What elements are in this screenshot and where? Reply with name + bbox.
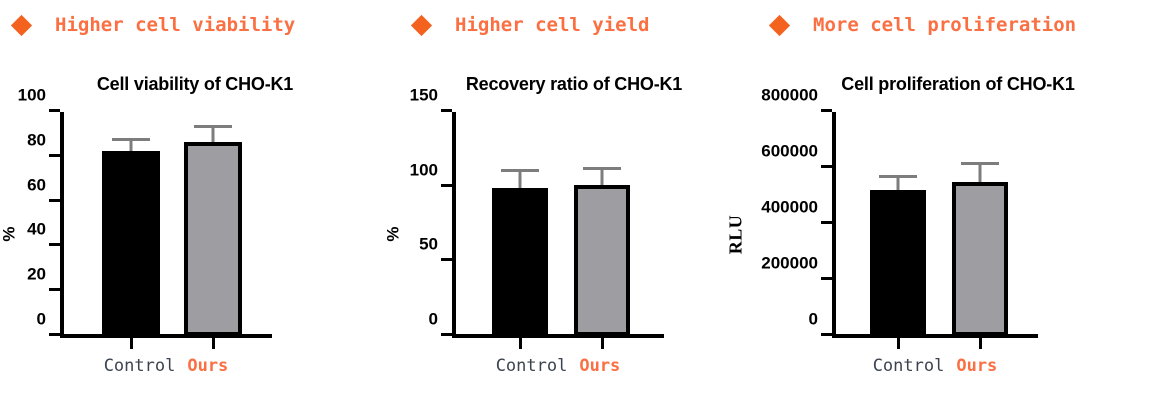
y-axis-label: % bbox=[0, 226, 20, 241]
y-tick bbox=[821, 221, 832, 224]
y-tick bbox=[441, 333, 452, 336]
claim-text: Higher cell yield bbox=[455, 14, 649, 36]
y-tick bbox=[821, 109, 832, 112]
y-tick-label: 0 bbox=[37, 311, 46, 328]
bar-ours bbox=[952, 182, 1008, 336]
x-label-ours: Ours bbox=[187, 358, 228, 375]
y-tick bbox=[49, 333, 60, 336]
x-tick bbox=[212, 338, 215, 349]
x-axis-line bbox=[452, 334, 664, 338]
claim-item-viability: Higher cell viability bbox=[14, 8, 295, 42]
chart-title: Recovery ratio of CHO-K1 bbox=[390, 74, 758, 95]
error-bar-ours bbox=[184, 125, 242, 142]
y-tick-label: 150 bbox=[410, 87, 438, 104]
figure-root: Higher cell viability Higher cell yield … bbox=[0, 0, 1158, 400]
error-bar-ours bbox=[952, 162, 1008, 182]
chart-panel-recovery: Recovery ratio of CHO-K1 0 50 100 150 % bbox=[390, 56, 758, 400]
y-tick-label: 20 bbox=[27, 266, 46, 283]
x-label-control: Control bbox=[104, 358, 176, 375]
error-bar-cap bbox=[194, 125, 232, 128]
chart-panel-proliferation: Cell proliferation of CHO-K1 0 200000 40… bbox=[758, 56, 1158, 400]
y-tick bbox=[441, 109, 452, 112]
y-tick-label: 0 bbox=[429, 311, 438, 328]
y-tick bbox=[821, 165, 832, 168]
error-bar-cap bbox=[112, 138, 150, 141]
y-tick-label: 60 bbox=[27, 176, 46, 193]
diamond-icon bbox=[769, 14, 790, 35]
y-tick bbox=[49, 199, 60, 202]
x-label-control: Control bbox=[496, 358, 568, 375]
bar-ours bbox=[574, 185, 630, 336]
y-tick-label: 0 bbox=[809, 311, 818, 328]
y-tick bbox=[821, 277, 832, 280]
x-tick bbox=[601, 338, 604, 349]
y-tick-label: 100 bbox=[18, 87, 46, 104]
chart-panel-viability: Cell viability of CHO-K1 0 20 40 60 80 1… bbox=[0, 56, 390, 400]
x-label-ours: Ours bbox=[956, 358, 997, 375]
chart-title: Cell proliferation of CHO-K1 bbox=[758, 74, 1158, 95]
error-bar-ours bbox=[574, 167, 630, 185]
claim-text: More cell proliferation bbox=[813, 14, 1076, 36]
error-bar-cap bbox=[583, 167, 621, 170]
x-axis-labels: Control Ours bbox=[452, 358, 664, 375]
x-label-ours: Ours bbox=[579, 358, 620, 375]
y-tick bbox=[49, 109, 60, 112]
x-tick bbox=[519, 338, 522, 349]
y-tick bbox=[441, 258, 452, 261]
y-axis-line bbox=[60, 112, 64, 336]
error-bar-cap bbox=[501, 169, 539, 172]
claim-item-yield: Higher cell yield bbox=[414, 8, 649, 42]
error-bar-cap bbox=[961, 162, 999, 165]
diamond-icon bbox=[11, 14, 32, 35]
y-tick-label: 200000 bbox=[761, 255, 818, 272]
chart-title: Cell viability of CHO-K1 bbox=[0, 74, 390, 95]
bar-control bbox=[102, 151, 160, 336]
y-tick bbox=[441, 184, 452, 187]
x-tick bbox=[897, 338, 900, 349]
y-tick-label: 400000 bbox=[761, 199, 818, 216]
bar-control bbox=[492, 188, 548, 336]
y-tick-label: 100 bbox=[410, 161, 438, 178]
claim-text: Higher cell viability bbox=[55, 14, 295, 36]
bar-control bbox=[870, 190, 926, 336]
claims-row: Higher cell viability Higher cell yield … bbox=[0, 0, 1158, 56]
bar-ours bbox=[184, 142, 242, 336]
y-tick-label: 40 bbox=[27, 221, 46, 238]
error-bar-control bbox=[102, 138, 160, 152]
diamond-icon bbox=[411, 14, 432, 35]
y-axis-label: RLU bbox=[725, 215, 746, 255]
x-axis-labels: Control Ours bbox=[60, 358, 272, 375]
x-tick bbox=[130, 338, 133, 349]
y-tick bbox=[821, 333, 832, 336]
y-tick bbox=[49, 243, 60, 246]
y-tick bbox=[49, 288, 60, 291]
y-tick-label: 50 bbox=[419, 236, 438, 253]
x-tick bbox=[979, 338, 982, 349]
y-axis-label: % bbox=[384, 226, 404, 241]
y-tick-label: 600000 bbox=[761, 143, 818, 160]
y-tick-label: 80 bbox=[27, 131, 46, 148]
y-tick-label: 800000 bbox=[761, 87, 818, 104]
plot-area: 0 50 100 150 % Control Ours bbox=[452, 112, 682, 336]
x-axis-labels: Control Ours bbox=[832, 358, 1038, 375]
y-axis-line bbox=[832, 112, 836, 336]
y-axis-line bbox=[452, 112, 456, 336]
claim-item-proliferation: More cell proliferation bbox=[772, 8, 1076, 42]
error-bar-control bbox=[492, 169, 548, 188]
plot-area: 0 200000 400000 600000 800000 RLU Contro… bbox=[832, 112, 1056, 336]
error-bar-stem bbox=[979, 162, 982, 182]
x-label-control: Control bbox=[873, 358, 945, 375]
plot-area: 0 20 40 60 80 100 % Control bbox=[60, 112, 300, 336]
y-tick bbox=[49, 154, 60, 157]
error-bar-cap bbox=[879, 175, 917, 178]
error-bar-control bbox=[870, 175, 926, 191]
